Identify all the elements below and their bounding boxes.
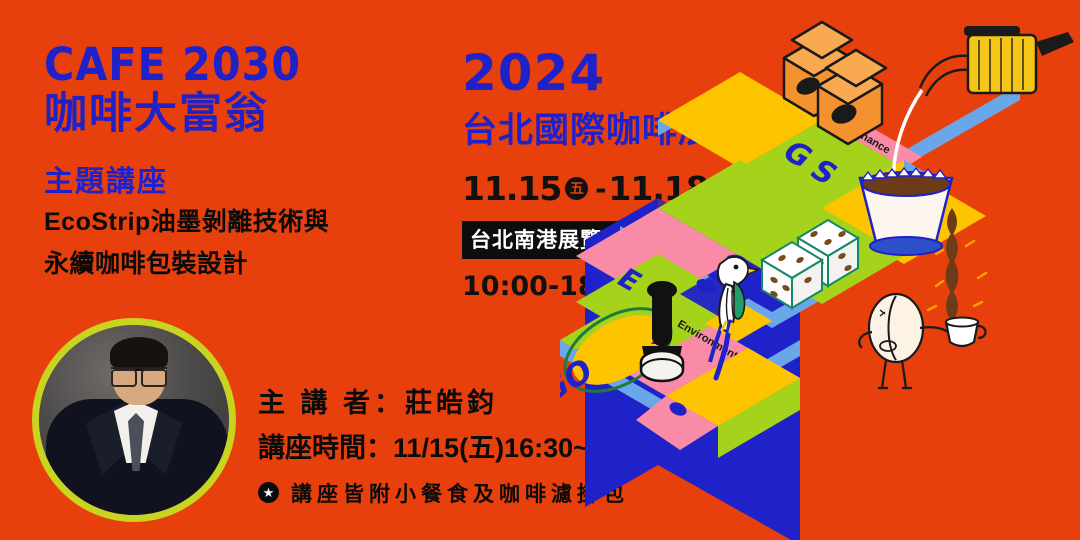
pour-over-dripper-icon bbox=[860, 168, 952, 255]
left-text-column: CAFE 2030 咖啡大富翁 主題講座 EcoStrip油墨剝離技術與 永續咖… bbox=[44, 42, 444, 282]
date-start: 11.15 bbox=[462, 169, 561, 208]
topic-label: 主題講座 bbox=[44, 166, 444, 199]
topic-line-1: EcoStrip油墨剝離技術與 bbox=[44, 205, 444, 241]
portrait-hair bbox=[110, 337, 168, 371]
isometric-board-illustration: Governance G Social S bbox=[560, 10, 1080, 540]
page-title-chinese: 咖啡大富翁 bbox=[44, 90, 444, 138]
page-title-english: CAFE 2030 bbox=[44, 42, 452, 88]
glasses-icon bbox=[111, 367, 167, 385]
star-icon: ★ bbox=[258, 482, 279, 503]
promo-banner: CAFE 2030 咖啡大富翁 主題講座 EcoStrip油墨剝離技術與 永續咖… bbox=[0, 0, 1080, 540]
speaker-portrait-avatar bbox=[32, 318, 236, 522]
topic-line-2: 永續咖啡包裝設計 bbox=[44, 247, 444, 283]
portrait-image bbox=[39, 325, 229, 515]
